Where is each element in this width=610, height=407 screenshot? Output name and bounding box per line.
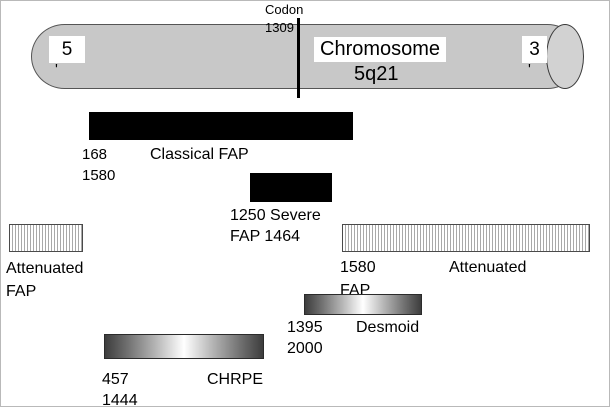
desmoid-start-codon: 1395 bbox=[287, 319, 323, 337]
chrpe-end-codon: 1444 bbox=[102, 392, 138, 407]
five-prime-label: 5 bbox=[49, 36, 85, 63]
region-bar-severe-fap bbox=[250, 173, 332, 202]
desmoid-end-codon: 2000 bbox=[287, 340, 323, 358]
attenuated-fap-right-label: Attenuated bbox=[449, 259, 526, 277]
chromosome-region-diagram: 5 ' 3 ' Chromosome 5q21 Codon 1309 168 1… bbox=[0, 0, 610, 407]
classical-fap-start-codon: 168 bbox=[82, 146, 107, 163]
region-bar-desmoid bbox=[304, 294, 422, 315]
region-bar-attenuated-fap-right bbox=[342, 224, 590, 252]
three-prime-mark: ' bbox=[528, 65, 531, 75]
classical-fap-label: Classical FAP bbox=[150, 146, 249, 164]
chromosome-subtitle: 5q21 bbox=[354, 63, 399, 86]
attenuated-fap-right-start-codon: 1580 bbox=[340, 259, 376, 277]
codon-marker-label: Codon bbox=[265, 2, 303, 17]
five-prime-mark: ' bbox=[55, 65, 58, 75]
severe-fap-label-line1: 1250 Severe bbox=[230, 207, 321, 225]
region-bar-chrpe bbox=[104, 334, 264, 359]
attenuated-fap-left-label-line2: FAP bbox=[6, 283, 36, 301]
attenuated-fap-left-label-line1: Attenuated bbox=[6, 260, 83, 278]
chrpe-start-codon: 457 bbox=[102, 371, 129, 389]
severe-fap-label-line2: FAP 1464 bbox=[230, 228, 300, 246]
chrpe-label: CHRPE bbox=[207, 371, 263, 389]
chromosome-cylinder-body bbox=[31, 24, 581, 89]
region-bar-classical-fap bbox=[89, 112, 353, 140]
codon-marker-value: 1309 bbox=[265, 20, 294, 35]
classical-fap-end-codon: 1580 bbox=[82, 167, 115, 184]
desmoid-label: Desmoid bbox=[356, 319, 419, 337]
codon-marker-line bbox=[297, 18, 300, 98]
three-prime-label: 3 bbox=[522, 36, 547, 63]
chromosome-cylinder-cap bbox=[546, 24, 584, 89]
chromosome-title: Chromosome bbox=[314, 37, 446, 62]
region-bar-attenuated-fap-left bbox=[9, 224, 83, 252]
